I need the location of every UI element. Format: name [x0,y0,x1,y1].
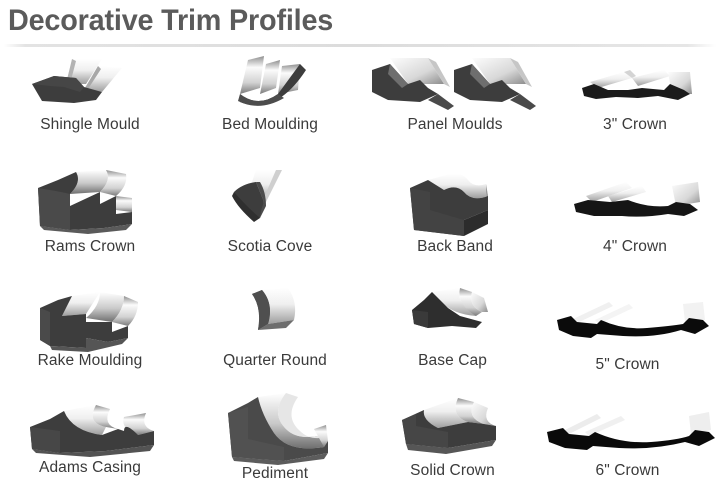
crown-3-illustration [572,60,702,116]
header-divider [4,44,716,47]
profile-item-quarter-round[interactable]: Quarter Round [180,280,370,395]
rams-crown-illustration [28,166,144,238]
shingle-mould-illustration [30,54,145,116]
profile-item-back-band[interactable]: Back Band [360,162,550,280]
profile-item-crown-3[interactable]: 3" Crown [550,50,720,162]
profile-label-pediment: Pediment [180,465,370,483]
base-cap-illustration [398,286,503,344]
profile-item-rake-moulding[interactable]: Rake Moulding [0,280,180,395]
profile-label-crown-4: 4" Crown [550,238,720,256]
profile-label-base-cap: Base Cap [370,352,535,370]
crown-6-illustration [539,402,717,460]
profile-item-crown-4[interactable]: 4" Crown [550,162,720,280]
profile-label-quarter-round: Quarter Round [180,352,370,370]
profile-label-bed-moulding: Bed Moulding [180,116,360,134]
crown-4-illustration [564,176,709,232]
crown-5-illustration [543,294,715,350]
profile-label-back-band: Back Band [360,238,550,256]
profile-label-rake-moulding: Rake Moulding [0,352,180,370]
profile-label-panel-moulds: Panel Moulds [360,116,550,134]
profile-label-crown-5: 5" Crown [535,356,720,374]
profile-item-panel-moulds[interactable]: Panel Moulds [360,50,550,162]
profiles-grid: Shingle Mould Bed Moulding [0,50,720,497]
profile-item-adams-casing[interactable]: Adams Casing [0,395,180,497]
bed-moulding-illustration [214,54,324,116]
profile-item-scotia-cove[interactable]: Scotia Cove [180,162,360,280]
adams-casing-illustration [20,401,160,461]
rake-moulding-illustration [28,288,148,356]
profile-label-scotia-cove: Scotia Cove [180,238,360,256]
profile-label-shingle-mould: Shingle Mould [0,116,180,134]
profile-label-crown-6: 6" Crown [535,462,720,480]
solid-crown-illustration [392,394,512,464]
profile-item-shingle-mould[interactable]: Shingle Mould [0,50,180,162]
page-title: Decorative Trim Profiles [8,4,333,38]
profile-item-rams-crown[interactable]: Rams Crown [0,162,180,280]
profile-item-base-cap[interactable]: Base Cap [370,280,535,395]
profile-item-bed-moulding[interactable]: Bed Moulding [180,50,360,162]
profile-item-crown-5[interactable]: 5" Crown [535,280,720,395]
scotia-cove-illustration [220,166,320,232]
page-header: Decorative Trim Profiles [0,0,720,50]
profile-label-adams-casing: Adams Casing [0,459,180,477]
panel-moulds-illustration [368,54,543,116]
back-band-illustration [402,166,512,244]
profile-item-crown-6[interactable]: 6" Crown [535,390,720,497]
profile-label-crown-3: 3" Crown [550,116,720,134]
profile-label-rams-crown: Rams Crown [0,238,180,256]
profile-label-solid-crown: Solid Crown [370,462,535,480]
profile-item-pediment[interactable]: Pediment [180,385,370,497]
pediment-illustration [214,391,339,469]
trim-profiles-page: Decorative Trim Profiles [0,0,720,497]
quarter-round-illustration [242,286,312,344]
profile-item-solid-crown[interactable]: Solid Crown [370,390,535,497]
